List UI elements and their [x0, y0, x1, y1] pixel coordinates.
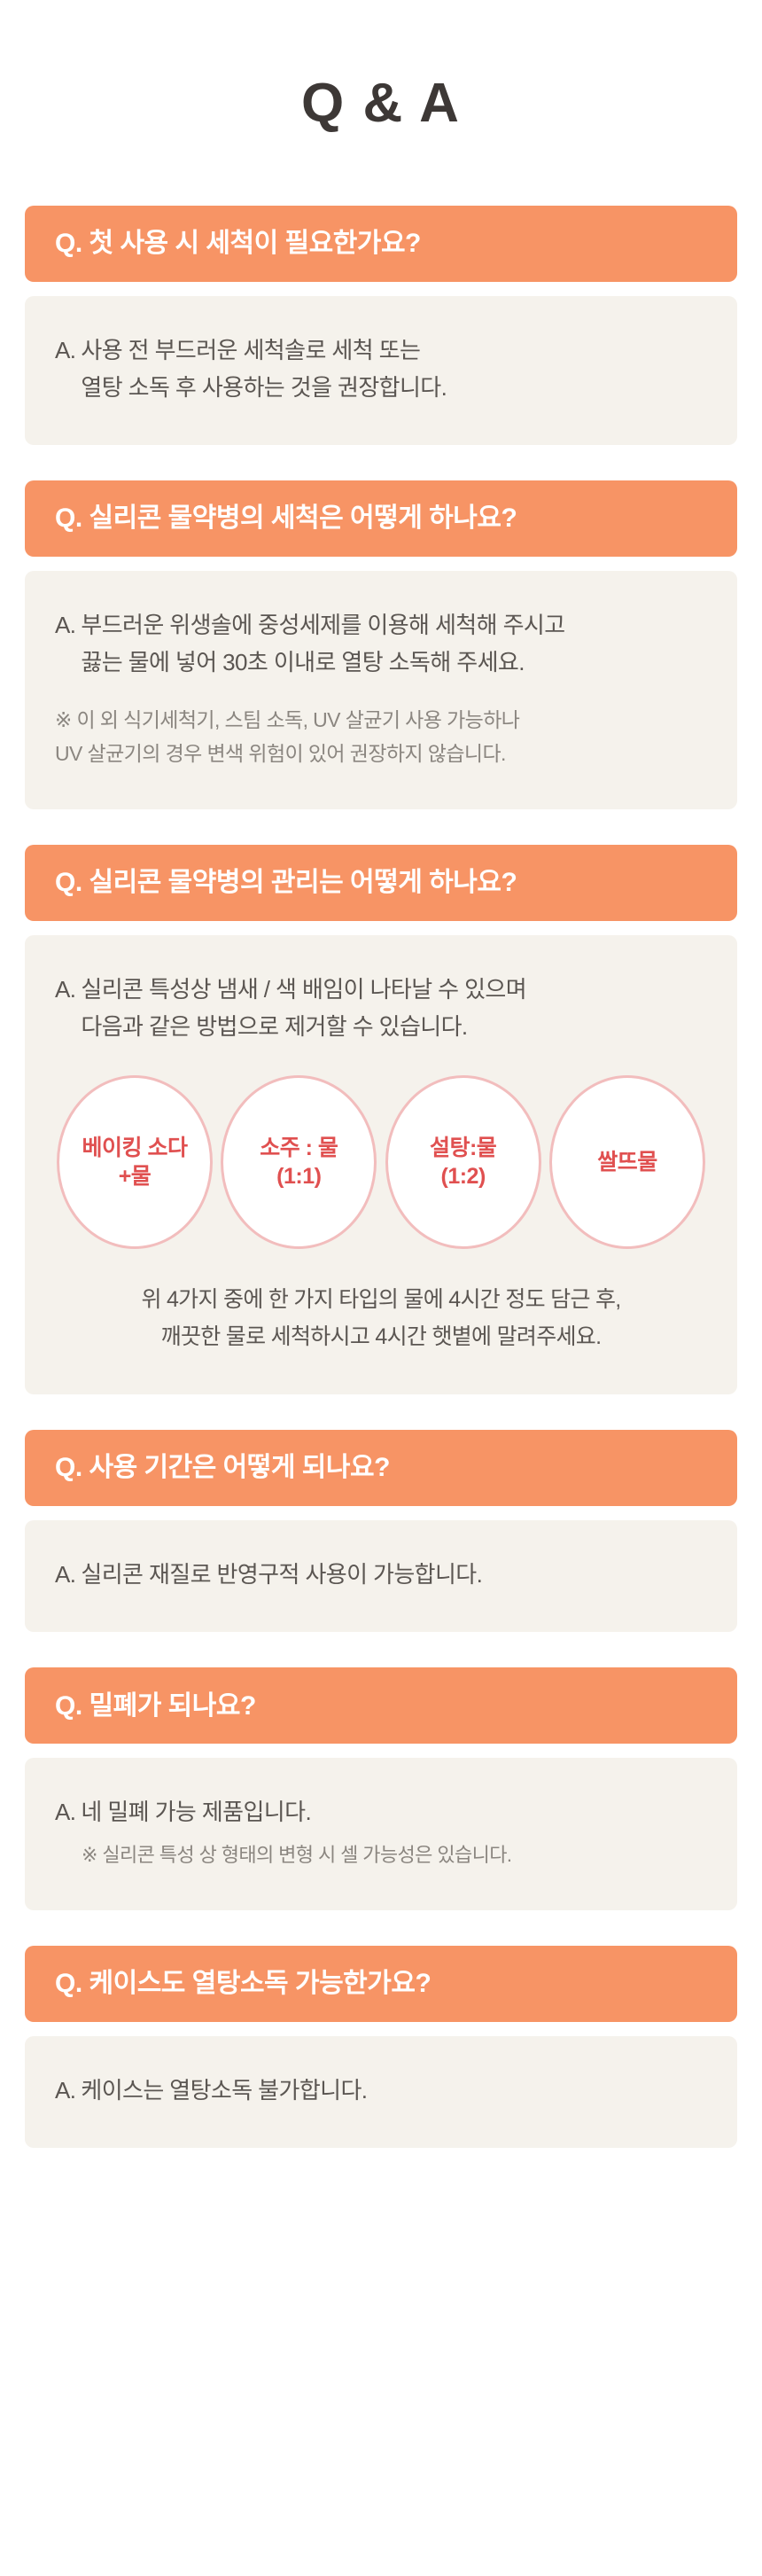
answer-text-1-1: 열탕 소독 후 사용하는 것을 권장합니다.: [81, 369, 707, 406]
question-bar-1[interactable]: Q. 첫 사용 시 세척이 필요한가요?: [25, 206, 737, 282]
answer-card-5: A. 네 밀폐 가능 제품입니다. ※ 실리콘 특성 상 형태의 변형 시 셀 …: [25, 1758, 737, 1910]
answer-marker-5: A.: [55, 1793, 81, 1831]
cleaning-method-circle-4: 쌀뜨물: [549, 1075, 705, 1249]
answer-text-2-0: 부드러운 위생솔에 중성세제를 이용해 세척해 주시고: [81, 606, 707, 644]
answer-body-5: 네 밀폐 가능 제품입니다.: [81, 1793, 707, 1831]
cleaning-method-circle-3: 설탕:물 (1:2): [385, 1075, 541, 1249]
answer-text-5-0: 네 밀폐 가능 제품입니다.: [81, 1793, 707, 1831]
answer-marker-6: A.: [55, 2072, 81, 2109]
circle-1-line-1: 베이킹 소다: [82, 1134, 188, 1162]
circle-3-line-2: (1:2): [441, 1162, 486, 1190]
cleaning-method-circle-1: 베이킹 소다 +물: [57, 1075, 213, 1249]
qa-block-4: Q. 사용 기간은 어떻게 되나요? A. 실리콘 재질로 반영구적 사용이 가…: [25, 1430, 737, 1632]
question-text-5: Q. 밀폐가 되나요?: [55, 1690, 256, 1723]
answer-card-1: A. 사용 전 부드러운 세척솔로 세척 또는 열탕 소독 후 사용하는 것을 …: [25, 296, 737, 445]
answer-marker-3: A.: [55, 971, 81, 1008]
cleaning-method-circle-2: 소주 : 물 (1:1): [221, 1075, 377, 1249]
answer-line-6: A. 케이스는 열탕소독 불가합니다.: [55, 2072, 707, 2109]
circle-2-line-2: (1:1): [276, 1162, 321, 1190]
question-bar-3[interactable]: Q. 실리콘 물약병의 관리는 어떻게 하나요?: [25, 845, 737, 921]
answer-body-3: 실리콘 특성상 냄새 / 색 배임이 나타날 수 있으며 다음과 같은 방법으로…: [81, 971, 707, 1045]
answer-text-3-1: 다음과 같은 방법으로 제거할 수 있습니다.: [81, 1008, 707, 1045]
qa-block-5: Q. 밀폐가 되나요? A. 네 밀폐 가능 제품입니다. ※ 실리콘 특성 상…: [25, 1667, 737, 1910]
qa-block-2: Q. 실리콘 물약병의 세척은 어떻게 하나요? A. 부드러운 위생솔에 중성…: [25, 480, 737, 809]
answer-note-5-0: ※ 실리콘 특성 상 형태의 변형 시 셀 가능성은 있습니다.: [82, 1839, 707, 1871]
answer-text-2-1: 끓는 물에 넣어 30초 이내로 열탕 소독해 주세요.: [81, 644, 707, 681]
answer-note-5: ※ 실리콘 특성 상 형태의 변형 시 셀 가능성은 있습니다.: [55, 1839, 707, 1871]
answer-line-5: A. 네 밀폐 가능 제품입니다.: [55, 1793, 707, 1831]
answer-note-2-0: ※ 이 외 식기세척기, 스팀 소독, UV 살균기 사용 가능하나: [55, 704, 707, 737]
question-text-6: Q. 케이스도 열탕소독 가능한가요?: [55, 1967, 431, 2001]
answer-card-4: A. 실리콘 재질로 반영구적 사용이 가능합니다.: [25, 1520, 737, 1632]
circle-caption-line-1: 위 4가지 중에 한 가지 타입의 물에 4시간 정도 담근 후,: [55, 1281, 707, 1318]
answer-body-2: 부드러운 위생솔에 중성세제를 이용해 세척해 주시고 끓는 물에 넣어 30초…: [81, 606, 707, 681]
circle-1-line-2: +물: [119, 1162, 152, 1190]
answer-text-6-0: 케이스는 열탕소독 불가합니다.: [81, 2072, 707, 2109]
qa-block-3: Q. 실리콘 물약병의 관리는 어떻게 하나요? A. 실리콘 특성상 냄새 /…: [25, 845, 737, 1394]
question-text-2: Q. 실리콘 물약병의 세척은 어떻게 하나요?: [55, 502, 517, 535]
qa-block-1: Q. 첫 사용 시 세척이 필요한가요? A. 사용 전 부드러운 세척솔로 세…: [25, 206, 737, 445]
answer-text-1-0: 사용 전 부드러운 세척솔로 세척 또는: [81, 332, 707, 369]
page-title-wrap: Q & A: [25, 0, 737, 206]
qa-block-6: Q. 케이스도 열탕소독 가능한가요? A. 케이스는 열탕소독 불가합니다.: [25, 1946, 737, 2148]
page-title: Q & A: [301, 72, 461, 135]
answer-line-4: A. 실리콘 재질로 반영구적 사용이 가능합니다.: [55, 1556, 707, 1593]
question-bar-4[interactable]: Q. 사용 기간은 어떻게 되나요?: [25, 1430, 737, 1506]
answer-text-3-0: 실리콘 특성상 냄새 / 색 배임이 나타날 수 있으며: [81, 971, 707, 1008]
question-bar-5[interactable]: Q. 밀폐가 되나요?: [25, 1667, 737, 1744]
answer-body-4: 실리콘 재질로 반영구적 사용이 가능합니다.: [81, 1556, 707, 1593]
question-text-4: Q. 사용 기간은 어떻게 되나요?: [55, 1451, 390, 1485]
answer-text-4-0: 실리콘 재질로 반영구적 사용이 가능합니다.: [81, 1556, 707, 1593]
circle-4-line-1: 쌀뜨물: [597, 1148, 657, 1176]
answer-note-2: ※ 이 외 식기세척기, 스팀 소독, UV 살균기 사용 가능하나 UV 살균…: [55, 704, 707, 770]
answer-line-3: A. 실리콘 특성상 냄새 / 색 배임이 나타날 수 있으며 다음과 같은 방…: [55, 971, 707, 1045]
answer-line-2: A. 부드러운 위생솔에 중성세제를 이용해 세척해 주시고 끓는 물에 넣어 …: [55, 606, 707, 681]
question-text-1: Q. 첫 사용 시 세척이 필요한가요?: [55, 227, 421, 261]
answer-body-6: 케이스는 열탕소독 불가합니다.: [81, 2072, 707, 2109]
cleaning-method-circles: 베이킹 소다 +물 소주 : 물 (1:1) 설탕:물 (1:2) 쌀뜨물: [55, 1075, 707, 1249]
answer-note-2-1: UV 살균기의 경우 변색 위험이 있어 권장하지 않습니다.: [55, 738, 707, 770]
answer-card-3: A. 실리콘 특성상 냄새 / 색 배임이 나타날 수 있으며 다음과 같은 방…: [25, 935, 737, 1394]
answer-card-2: A. 부드러운 위생솔에 중성세제를 이용해 세척해 주시고 끓는 물에 넣어 …: [25, 571, 737, 809]
answer-marker-1: A.: [55, 332, 81, 369]
answer-marker-4: A.: [55, 1556, 81, 1593]
faq-page: Q & A Q. 첫 사용 시 세척이 필요한가요? A. 사용 전 부드러운 …: [0, 0, 762, 2576]
question-bar-6[interactable]: Q. 케이스도 열탕소독 가능한가요?: [25, 1946, 737, 2022]
answer-marker-2: A.: [55, 606, 81, 644]
question-bar-2[interactable]: Q. 실리콘 물약병의 세척은 어떻게 하나요?: [25, 480, 737, 557]
answer-card-6: A. 케이스는 열탕소독 불가합니다.: [25, 2036, 737, 2148]
question-text-3: Q. 실리콘 물약병의 관리는 어떻게 하나요?: [55, 866, 517, 900]
answer-body-1: 사용 전 부드러운 세척솔로 세척 또는 열탕 소독 후 사용하는 것을 권장합…: [81, 332, 707, 406]
circle-3-line-1: 설탕:물: [430, 1134, 496, 1162]
circle-caption: 위 4가지 중에 한 가지 타입의 물에 4시간 정도 담근 후, 깨끗한 물로…: [55, 1281, 707, 1355]
circle-caption-line-2: 깨끗한 물로 세척하시고 4시간 햇볕에 말려주세요.: [55, 1318, 707, 1355]
answer-line-1: A. 사용 전 부드러운 세척솔로 세척 또는 열탕 소독 후 사용하는 것을 …: [55, 332, 707, 406]
circle-2-line-1: 소주 : 물: [260, 1134, 338, 1162]
bottom-spacer: [25, 2183, 737, 2290]
